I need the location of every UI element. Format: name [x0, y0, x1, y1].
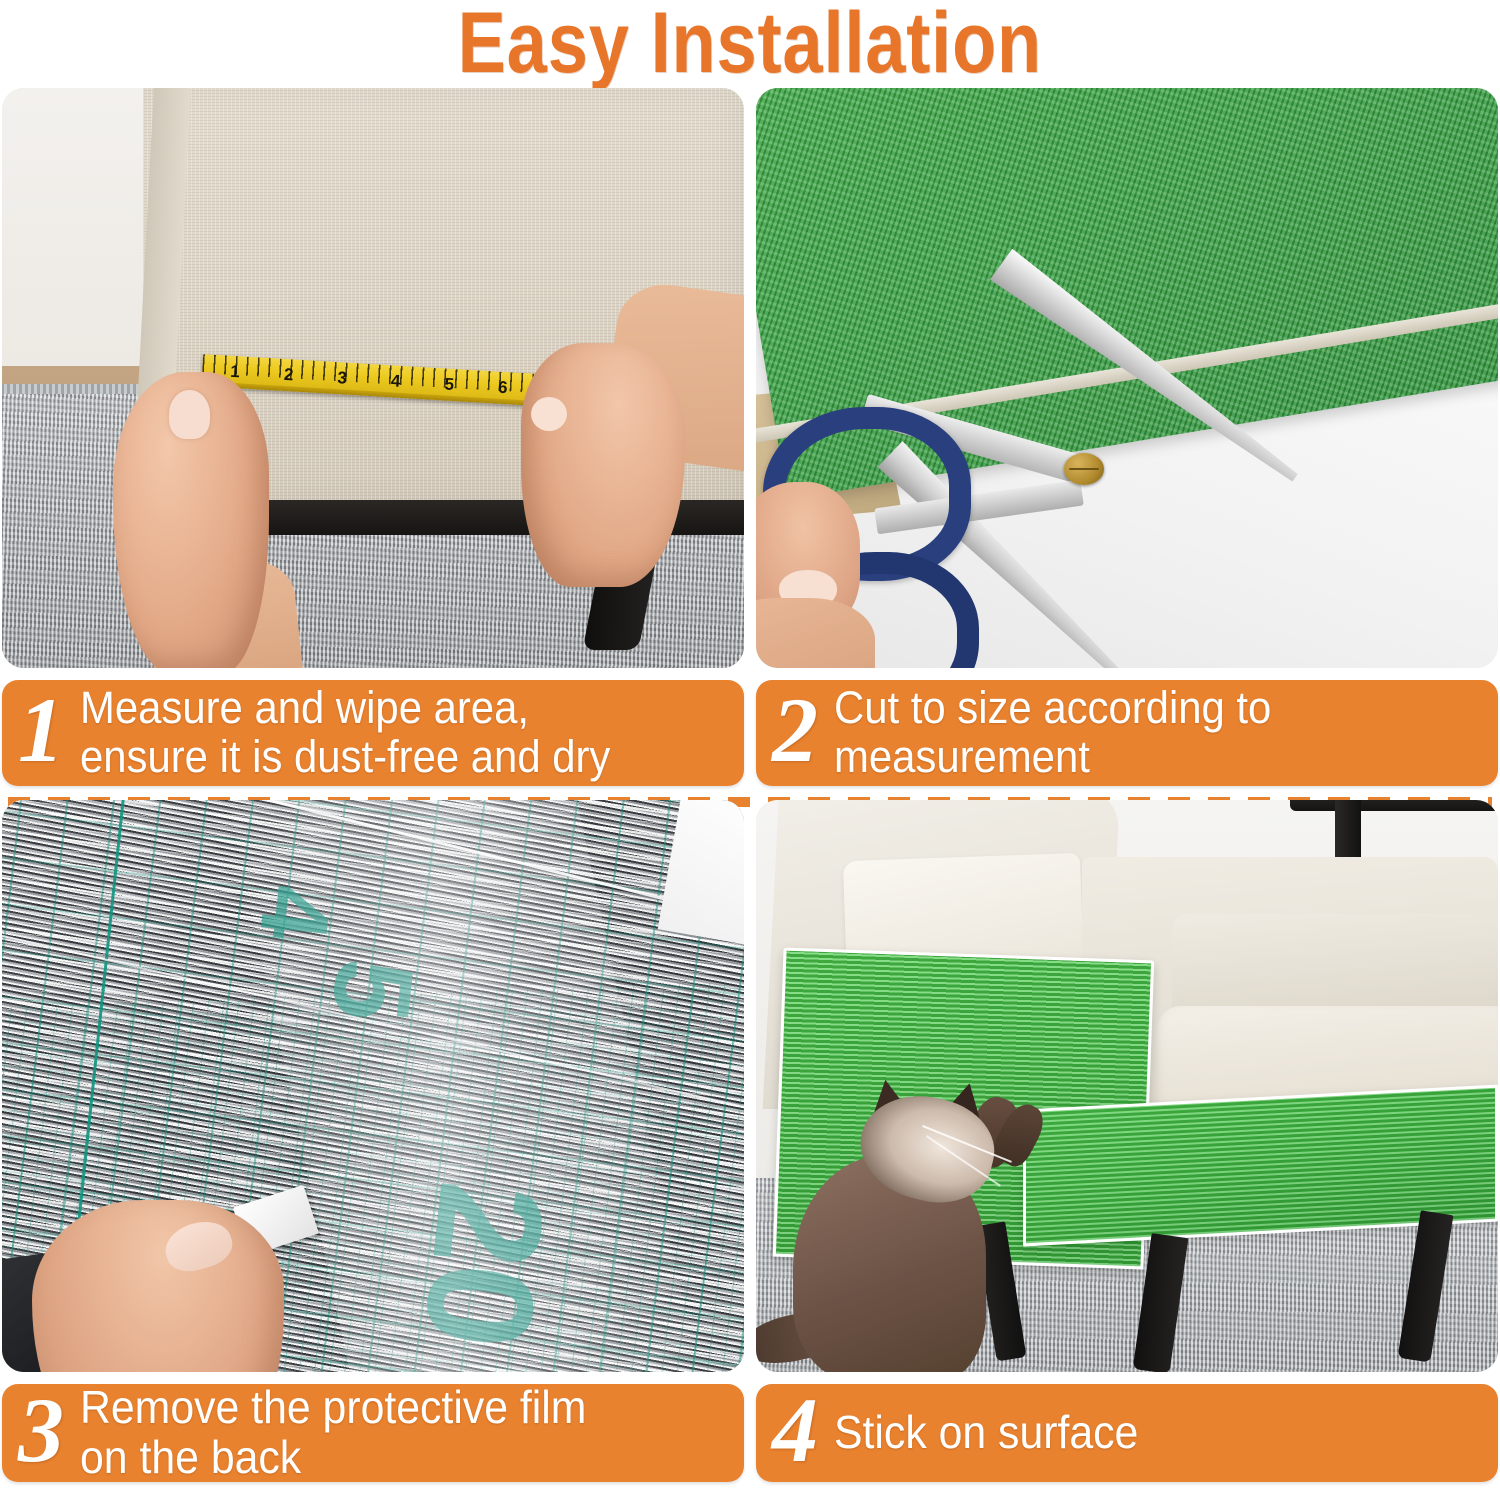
scissors-pivot-screw — [1064, 453, 1104, 484]
armchair-right-arm — [1172, 914, 1498, 1017]
step-card-1: 1 2 3 4 5 6 1 Measure and wipe are — [2, 88, 744, 788]
tape-mark-1: 1 — [230, 362, 241, 383]
stick-surface-photo — [756, 800, 1498, 1372]
step-caption-3: 3 Remove the protective film on the back — [2, 1384, 744, 1482]
page-title-bar: Easy Installation — [0, 0, 1500, 86]
step-card-3: 4 5 20 3 Remove the protective film on t… — [2, 800, 744, 1500]
tape-mark-5: 5 — [444, 374, 455, 395]
tape-mark-4: 4 — [391, 371, 402, 392]
right-hand — [521, 343, 684, 587]
peeling-hand — [32, 1200, 284, 1372]
step-caption-text-4: Stick on surface — [834, 1407, 1138, 1457]
side-table-top — [1290, 800, 1498, 811]
step-number-3: 3 — [18, 1386, 64, 1474]
step-caption-text-1: Measure and wipe area, ensure it is dust… — [80, 683, 610, 781]
steps-grid: 1 2 3 4 5 6 1 Measure and wipe are — [0, 88, 1500, 1500]
step-number-1: 1 — [18, 686, 64, 774]
peel-film-photo: 4 5 20 — [2, 800, 744, 1372]
step-number-2: 2 — [772, 686, 818, 774]
page-title: Easy Installation — [458, 0, 1042, 86]
infographic-page: Easy Installation 1 2 3 — [0, 0, 1500, 1500]
tape-mark-2: 2 — [284, 365, 295, 386]
tape-mark-6: 6 — [498, 377, 509, 398]
step-caption-text-3: Remove the protective film on the back — [80, 1382, 586, 1482]
tape-mark-3: 3 — [337, 368, 348, 389]
measure-sofa-photo: 1 2 3 4 5 6 — [2, 88, 744, 668]
left-hand — [113, 372, 269, 668]
step-card-2: 2 Cut to size according to measurement — [756, 88, 1498, 788]
step-caption-1: 1 Measure and wipe area, ensure it is du… — [2, 680, 744, 786]
step-caption-2: 2 Cut to size according to measurement — [756, 680, 1498, 786]
step-number-4: 4 — [772, 1386, 818, 1474]
cut-mat-photo — [756, 88, 1498, 668]
step-caption-4: 4 Stick on surface — [756, 1384, 1498, 1482]
step-caption-text-2: Cut to size according to measurement — [834, 683, 1271, 781]
step-card-4: 4 Stick on surface — [756, 800, 1498, 1500]
